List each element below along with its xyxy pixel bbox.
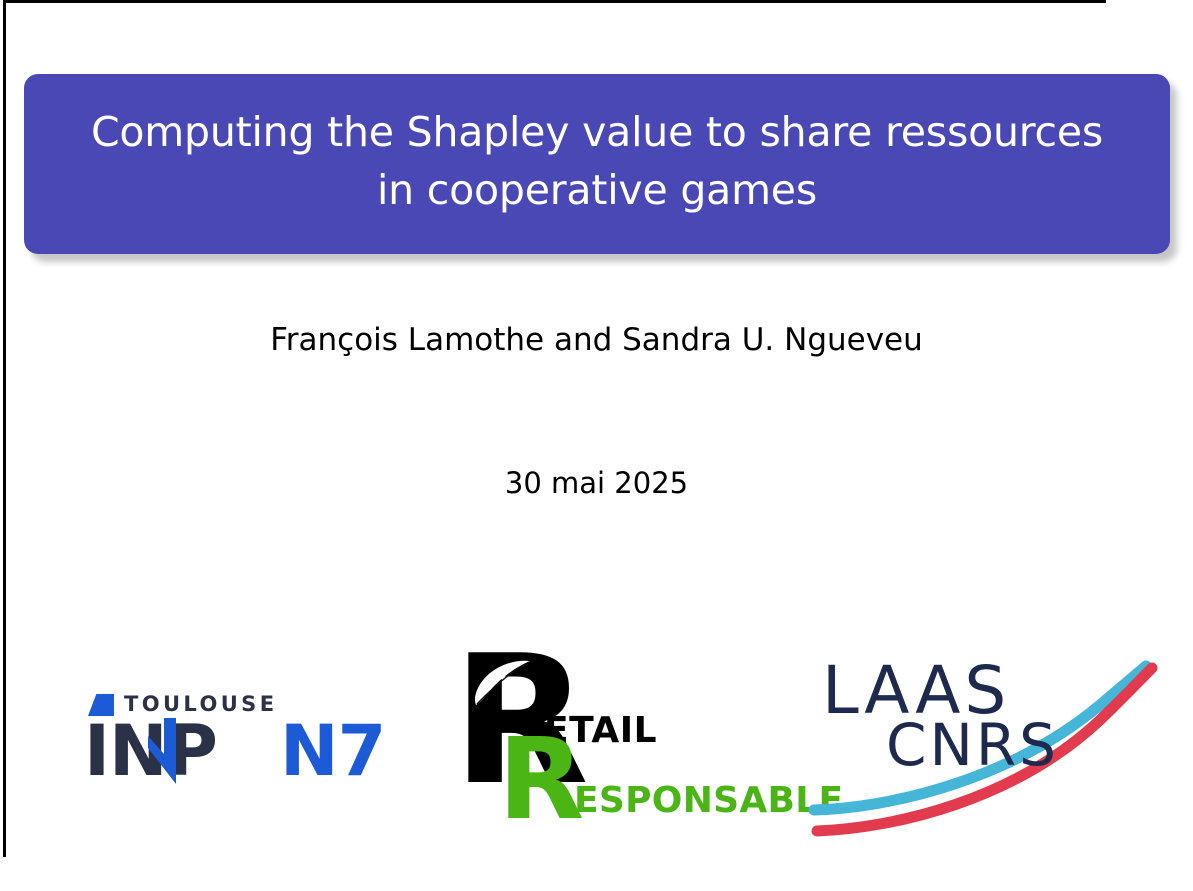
logo-retail-responsable: R ETAIL R ESPONSABLE [452, 632, 782, 822]
logo-laas-cnrs: LAAS CNRS [800, 650, 1160, 840]
page-title: Computing the Shapley value to share res… [68, 103, 1126, 219]
logo-toulouse-inp-n7: TOULOUSE INP N7 [84, 692, 384, 802]
page-frame-top-rule [3, 0, 1106, 3]
cnrs-text: CNRS [886, 716, 1059, 774]
leaf-icon [472, 658, 534, 710]
authors-line: François Lamothe and Sandra U. Ngueveu [0, 322, 1193, 358]
logo-strip: TOULOUSE INP N7 R ETAIL R ESPONSABLE [0, 620, 1193, 840]
responsable-initial-r: R [498, 724, 580, 836]
inp-blue-n-accent-icon [142, 718, 186, 784]
date-line: 30 mai 2025 [0, 466, 1193, 500]
title-banner: Computing the Shapley value to share res… [24, 74, 1170, 254]
inp-n7-text: N7 [280, 716, 385, 786]
title-slide: Computing the Shapley value to share res… [0, 0, 1193, 891]
